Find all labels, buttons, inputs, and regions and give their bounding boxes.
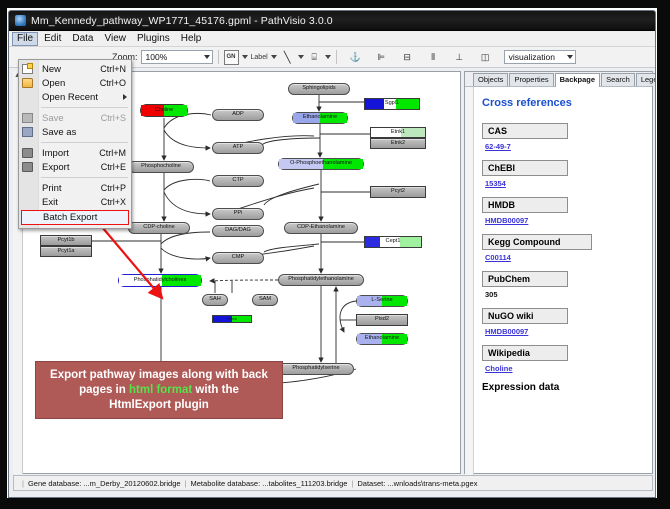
node-label: Sphingolipids	[302, 86, 335, 92]
gene-label: Cept1	[386, 239, 401, 245]
node-phosphatidylethanolamine[interactable]: Phosphatidylethanolamine	[278, 274, 364, 286]
menu-item-new[interactable]: New Ctrl+N	[19, 62, 131, 76]
line-tool-icon[interactable]: ╲	[280, 50, 295, 65]
xref-value-pubchem: 305	[482, 290, 644, 299]
menu-item-print-label: Print	[42, 183, 101, 194]
frame-edge-right	[657, 0, 670, 509]
menu-item-exit[interactable]: Exit Ctrl+X	[19, 195, 131, 209]
node-cmp[interactable]: CMP	[212, 252, 264, 264]
node-phosphatidylserine[interactable]: Phosphatidylserine	[278, 363, 354, 375]
gene-label: Pemt	[227, 317, 236, 321]
xref-db-cas: CAS	[482, 123, 568, 139]
backpage-content: Cross references CAS 62-49-7 ChEBI 15354…	[474, 87, 652, 473]
line-dropdown-icon[interactable]	[298, 55, 304, 59]
node-label: Ethanolamine	[365, 336, 399, 342]
node-label: Phosphatidylcholines	[134, 278, 187, 284]
menu-separator-3	[41, 177, 128, 178]
visualization-value: visualization	[509, 52, 555, 62]
menu-file[interactable]: File	[12, 32, 38, 46]
node-ethanolamine-bottom[interactable]: Ethanolamine	[356, 333, 408, 345]
pathvisio-icon	[15, 15, 26, 26]
gene-label: Pisd2	[375, 317, 389, 323]
chevron-down-icon-2	[567, 55, 573, 59]
menu-item-print-accel: Ctrl+P	[101, 183, 131, 193]
node-label: PPi	[234, 211, 243, 217]
xref-db-kegg: Kegg Compound	[482, 234, 592, 250]
node-label: Phosphatidylethanolamine	[288, 277, 354, 283]
node-label: CTP	[232, 178, 243, 184]
menu-item-batch-export[interactable]: Batch Export	[21, 210, 129, 225]
node-label: L-Serine	[371, 298, 392, 304]
node-atp[interactable]: ATP	[212, 142, 264, 154]
menu-item-save-label: Save	[42, 113, 101, 124]
node-label: Choline	[155, 108, 173, 113]
menu-view[interactable]: View	[99, 32, 131, 46]
callout-highlight: html format	[129, 384, 192, 396]
node-ethanolamine-top[interactable]: Ethanolamine	[292, 112, 348, 124]
tab-properties[interactable]: Properties	[509, 73, 553, 86]
menu-plugins[interactable]: Plugins	[132, 32, 175, 46]
tab-legend[interactable]: Legend	[636, 73, 656, 86]
xref-value-kegg[interactable]: C00114	[482, 253, 644, 262]
menu-item-open-label: Open	[42, 78, 100, 89]
node-ppi[interactable]: PPi	[212, 208, 264, 220]
gene-cept1[interactable]: Cept1	[364, 236, 422, 248]
gene-label: Etnk1	[391, 130, 405, 136]
node-label: DAG/DAG	[225, 228, 251, 234]
node-sphingolipids[interactable]: Sphingolipids	[288, 83, 350, 95]
node-label: ATP	[233, 145, 243, 151]
node-label: SAH	[209, 297, 221, 303]
menu-item-import-label: Import	[42, 148, 99, 159]
gene-label: Pcyt2	[391, 189, 405, 195]
menu-separator-2	[41, 142, 128, 143]
status-sep-2: |	[351, 479, 353, 488]
gene-pcyt2[interactable]: Pcyt2	[370, 186, 426, 198]
menu-item-open-recent-label: Open Recent	[42, 92, 131, 103]
xref-value-hmdb[interactable]: HMDB00097	[482, 216, 644, 225]
menu-item-export[interactable]: Export Ctrl+E	[19, 160, 131, 174]
window-titlebar: Mm_Kennedy_pathway_WP1771_45176.gpml - P…	[9, 11, 655, 31]
align-stack-tool-icon[interactable]: ⊟	[400, 50, 415, 65]
open-folder-icon	[22, 78, 33, 88]
frame-edge-bottom	[0, 498, 670, 509]
save-as-icon	[22, 127, 33, 137]
group-tool-icon[interactable]: ⊥	[452, 50, 467, 65]
menu-item-batch-export-label: Batch Export	[43, 212, 128, 223]
zoom-value: 100%	[146, 52, 168, 62]
node-cdp-choline[interactable]: CDP-choline	[128, 222, 190, 234]
node-label: CDP-choline	[143, 225, 174, 231]
node-label: SAM	[259, 297, 271, 303]
new-document-icon	[22, 64, 33, 74]
distribute-tool-icon[interactable]: ⦀	[426, 50, 441, 65]
menu-item-save[interactable]: Save Ctrl+S	[19, 111, 131, 125]
node-label: Phosphocholine	[141, 164, 181, 170]
toolbar-separator	[218, 50, 219, 64]
window-title: Mm_Kennedy_pathway_WP1771_45176.gpml - P…	[31, 15, 333, 27]
node-phosphocholine[interactable]: Phosphocholine	[128, 161, 194, 173]
frame-edge-top	[0, 0, 670, 8]
node-phosphatidylcholines[interactable]: Phosphatidylcholines	[118, 274, 202, 287]
gene-pisd2[interactable]: Pisd2	[356, 314, 408, 326]
menu-item-open[interactable]: Open Ctrl+O	[19, 76, 131, 90]
tab-backpage[interactable]: Backpage	[555, 73, 600, 87]
menu-separator-1	[41, 107, 128, 108]
gene-label: Etnk2	[391, 141, 405, 147]
callout-line1: Export pathway images along with back	[50, 368, 268, 383]
menu-item-open-recent[interactable]: Open Recent	[19, 90, 131, 104]
gene-label: Pcyt1a	[57, 249, 74, 255]
status-dataset: Dataset: ...wnloads\trans-meta.pgex	[357, 479, 477, 488]
submenu-arrow-icon	[123, 94, 127, 100]
gene-label: Sgpl1	[385, 101, 399, 107]
menu-item-exit-label: Exit	[42, 197, 101, 208]
status-metabolite-database: Metabolite database: ...tabolites_111203…	[191, 479, 348, 488]
callout-line2-b: with the	[192, 384, 239, 396]
side-panel: Objects Properties Backpage Search Legen…	[464, 71, 653, 474]
menu-item-print[interactable]: Print Ctrl+P	[19, 181, 131, 195]
menubar[interactable]: File Edit Data View Plugins Help	[9, 32, 655, 47]
side-panel-scrollbar[interactable]	[465, 87, 474, 475]
node-choline-top[interactable]: Choline	[140, 104, 188, 117]
label-dropdown-icon[interactable]	[271, 55, 277, 59]
zoom-combobox[interactable]: 100%	[141, 50, 213, 64]
node-label: Phosphatidylserine	[292, 366, 339, 372]
menu-help[interactable]: Help	[176, 32, 207, 46]
toolbar-separator-2	[336, 50, 337, 64]
gene-label: Pcyt1b	[57, 238, 74, 244]
xref-value-cas[interactable]: 62-49-7	[482, 142, 644, 151]
align-left-tool-icon[interactable]: ⊫	[374, 50, 389, 65]
gene-etnk2[interactable]: Etnk2	[370, 138, 426, 149]
node-sah[interactable]: SAH	[202, 294, 228, 306]
shape-dropdown-icon[interactable]	[325, 55, 331, 59]
status-bar: | Gene database: ...m_Derby_20120602.bri…	[13, 475, 653, 491]
menu-item-import[interactable]: Import Ctrl+M	[19, 146, 131, 160]
order-tool-icon[interactable]: ◫	[478, 50, 493, 65]
node-label: ADP	[232, 112, 244, 118]
node-ctp[interactable]: CTP	[212, 175, 264, 187]
label-tool-icon[interactable]: Label	[251, 54, 268, 61]
expression-data-heading: Expression data	[482, 382, 644, 393]
xref-db-chebi: ChEBI	[482, 160, 568, 176]
menu-item-new-label: New	[42, 64, 100, 75]
xref-value-wikipedia[interactable]: Choline	[482, 364, 644, 373]
menu-item-export-accel: Ctrl+E	[101, 162, 131, 172]
menu-item-new-accel: Ctrl+N	[100, 64, 131, 74]
menu-item-import-accel: Ctrl+M	[99, 148, 131, 158]
xref-db-pubchem: PubChem	[482, 271, 568, 287]
datanode-tool-icon[interactable]: GN	[224, 50, 239, 65]
node-sam[interactable]: SAM	[252, 294, 278, 306]
node-label: O-Phosphoethanolamine	[290, 161, 352, 167]
xref-value-nugo[interactable]: HMDB00097	[482, 327, 644, 336]
node-adp[interactable]: ADP	[212, 109, 264, 121]
callout-line2: pages in html format with the	[79, 383, 239, 398]
datanode-dropdown-icon[interactable]	[242, 55, 248, 59]
tab-objects[interactable]: Objects	[473, 73, 508, 86]
menu-item-exit-accel: Ctrl+X	[101, 197, 131, 207]
save-disk-icon	[22, 113, 33, 123]
node-cdp-ethanolamine[interactable]: CDP-Ethanolamine	[284, 222, 358, 234]
pathvisio-window: Mm_Kennedy_pathway_WP1771_45176.gpml - P…	[8, 10, 656, 498]
xref-db-wikipedia: Wikipedia	[482, 345, 568, 361]
menu-item-open-accel: Ctrl+O	[100, 78, 131, 88]
side-panel-tabs[interactable]: Objects Properties Backpage Search Legen…	[465, 72, 652, 87]
gene-etnk1[interactable]: Etnk1	[370, 127, 426, 138]
node-l-serine[interactable]: L-Serine	[356, 295, 408, 307]
gene-pcyt1b[interactable]: Pcyt1b	[40, 235, 92, 246]
node-o-phosphoethanolamine[interactable]: O-Phosphoethanolamine	[278, 158, 364, 170]
callout-line3: HtmlExport plugin	[109, 398, 209, 413]
menu-item-save-accel: Ctrl+S	[101, 113, 131, 123]
menu-edit[interactable]: Edit	[39, 32, 66, 46]
import-icon	[22, 148, 33, 158]
menu-data[interactable]: Data	[67, 32, 98, 46]
node-label: CDP-Ethanolamine	[297, 225, 345, 231]
gene-pcyt1a[interactable]: Pcyt1a	[40, 246, 92, 257]
callout-line2-a: pages in	[79, 384, 129, 396]
file-menu-dropdown[interactable]: New Ctrl+N Open Ctrl+O Open Recent Save …	[18, 59, 132, 229]
visualization-combobox[interactable]: visualization	[504, 50, 576, 64]
tab-search[interactable]: Search	[601, 73, 635, 86]
gene-pemt[interactable]: Pemt	[212, 315, 252, 323]
menu-item-export-label: Export	[42, 162, 101, 173]
status-sep-0: |	[22, 479, 24, 488]
node-dag-dag[interactable]: DAG/DAG	[212, 225, 264, 237]
shape-tool-icon[interactable]: ⌸	[307, 50, 322, 65]
node-label: Ethanolamine	[303, 115, 337, 121]
cross-references-heading: Cross references	[482, 97, 644, 109]
node-label: CMP	[232, 255, 244, 261]
page-frame: Mm_Kennedy_pathway_WP1771_45176.gpml - P…	[0, 0, 670, 509]
gene-sgpl1[interactable]: Sgpl1	[364, 98, 420, 110]
menu-item-save-as-label: Save as	[42, 127, 126, 138]
export-icon	[22, 162, 33, 172]
frame-edge-left	[0, 0, 7, 509]
status-gene-database: Gene database: ...m_Derby_20120602.bridg…	[28, 479, 181, 488]
xref-db-nugo: NuGO wiki	[482, 308, 568, 324]
status-sep-1: |	[185, 479, 187, 488]
xref-value-chebi[interactable]: 15354	[482, 179, 644, 188]
anchor-tool-icon[interactable]: ⚓	[348, 50, 363, 65]
xref-db-hmdb: HMDB	[482, 197, 568, 213]
annotation-callout: Export pathway images along with back pa…	[35, 361, 283, 419]
chevron-down-icon	[204, 55, 210, 59]
menu-item-save-as[interactable]: Save as	[19, 125, 131, 139]
